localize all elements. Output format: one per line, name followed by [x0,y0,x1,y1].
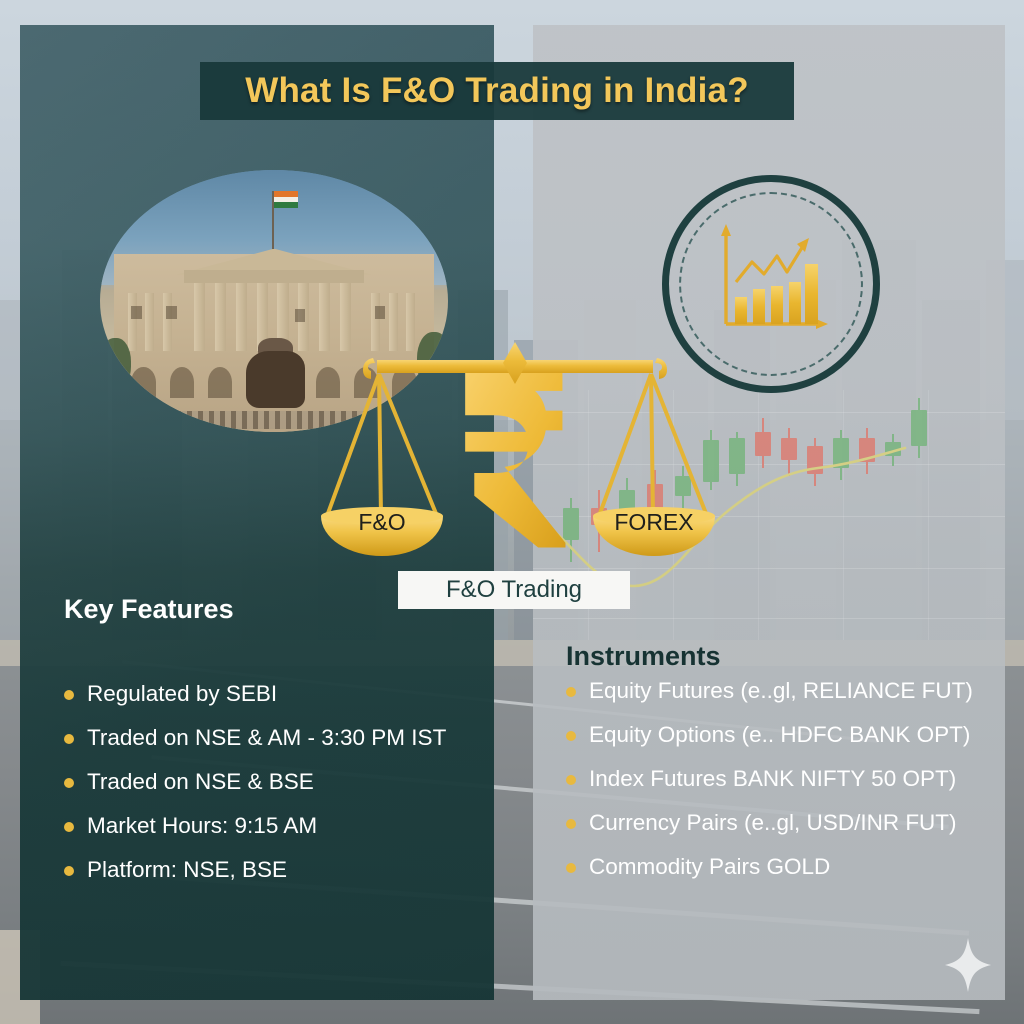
bullet-dot-icon [566,863,576,873]
fo-trading-caption-text: F&O Trading [446,576,582,604]
scale-pan-left-label: F&O [358,509,405,535]
bullet-dot-icon [64,690,74,700]
rupee-symbol [465,371,565,547]
key-features-list: Regulated by SEBITraded on NSE & AM - 3:… [64,681,484,901]
instruments-item-text: Currency Pairs (e..gl, USD/INR FUT) [589,810,957,836]
instruments-list: Equity Futures (e..gl, RELIANCE FUT)Equi… [566,678,1006,898]
bullet-dot-icon [64,822,74,832]
key-features-item: Regulated by SEBI [64,681,484,707]
key-features-item-text: Market Hours: 9:15 AM [87,813,317,839]
balance-scale-graphic: F&O FOREX [315,330,715,570]
bullet-dot-icon [566,687,576,697]
instruments-item: Currency Pairs (e..gl, USD/INR FUT) [566,810,1006,836]
key-features-item-text: Traded on NSE & AM - 3:30 PM IST [87,725,446,751]
scale-pan-right-label: FOREX [614,509,693,535]
bullet-dot-icon [64,778,74,788]
key-features-item-text: Platform: NSE, BSE [87,857,287,883]
instruments-item-text: Index Futures BANK NIFTY 50 OPT) [589,766,956,792]
key-features-item: Market Hours: 9:15 AM [64,813,484,839]
instruments-heading: Instruments [566,641,721,672]
instruments-item: Equity Options (e.. HDFC BANK OPT) [566,722,1006,748]
key-features-item-text: Regulated by SEBI [87,681,277,707]
bullet-dot-icon [566,819,576,829]
bullet-dot-icon [64,734,74,744]
bullet-dot-icon [566,731,576,741]
page-title: What Is F&O Trading in India? [245,71,749,111]
instruments-item-text: Commodity Pairs GOLD [589,854,830,880]
infographic-canvas: F&O FOREX F&O Trading What Is F&O Tradin… [0,0,1024,1024]
four-point-star-sparkle-icon [945,938,991,992]
fo-trading-caption: F&O Trading [398,571,630,609]
bullet-dot-icon [64,866,74,876]
title-bar: What Is F&O Trading in India? [200,62,794,120]
key-features-item-text: Traded on NSE & BSE [87,769,314,795]
instruments-item-text: Equity Options (e.. HDFC BANK OPT) [589,722,970,748]
key-features-item: Traded on NSE & BSE [64,769,484,795]
instruments-item: Index Futures BANK NIFTY 50 OPT) [566,766,1006,792]
key-features-heading: Key Features [64,594,234,625]
instruments-item: Commodity Pairs GOLD [566,854,1006,880]
instruments-item-text: Equity Futures (e..gl, RELIANCE FUT) [589,678,973,704]
key-features-item: Platform: NSE, BSE [64,857,484,883]
instruments-item: Equity Futures (e..gl, RELIANCE FUT) [566,678,1006,704]
bullet-dot-icon [566,775,576,785]
key-features-item: Traded on NSE & AM - 3:30 PM IST [64,725,484,751]
